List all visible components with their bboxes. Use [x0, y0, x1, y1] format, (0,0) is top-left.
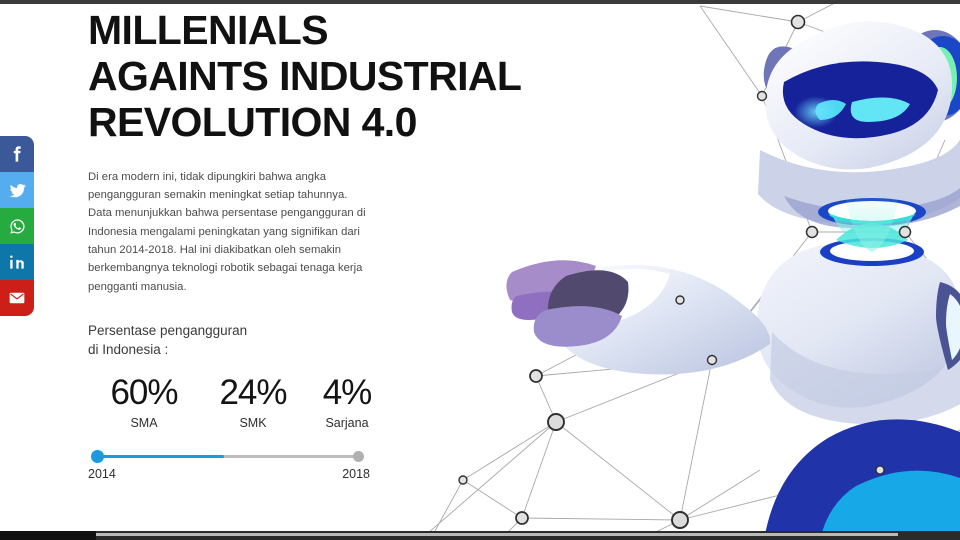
slider-handle-end[interactable] [353, 451, 364, 462]
player-progress-bar[interactable] [0, 531, 960, 540]
slider-year-end: 2018 [342, 467, 370, 481]
stat-label-smk: SMK [200, 410, 306, 430]
social-button-email[interactable] [0, 280, 34, 316]
email-icon [8, 289, 26, 307]
stat-label-sarjana: Sarjana [306, 410, 388, 430]
progress-played [0, 531, 96, 540]
stat-label-sma: SMA [88, 410, 200, 430]
stat-item-sarjana: 4% Sarjana [306, 375, 388, 430]
linkedin-icon [9, 254, 25, 270]
slide-content: MILLENIALS AGAINTS INDUSTRIAL REVOLUTION… [88, 0, 528, 483]
whatsapp-icon [9, 218, 26, 235]
stat-item-sma: 60% SMA [88, 375, 200, 430]
social-button-whatsapp[interactable] [0, 208, 34, 244]
slide-canvas: MILLENIALS AGAINTS INDUSTRIAL REVOLUTION… [0, 0, 960, 540]
slider-year-start: 2014 [88, 467, 116, 481]
stat-value-smk: 24% [200, 375, 306, 410]
slider-year-labels: 2014 2018 [88, 467, 372, 483]
page-title: MILLENIALS AGAINTS INDUSTRIAL REVOLUTION… [88, 0, 528, 146]
social-share-rail[interactable] [0, 136, 34, 316]
social-button-twitter[interactable] [0, 172, 34, 208]
slider-handle-start[interactable] [91, 450, 104, 463]
slider-fill [102, 455, 224, 458]
social-button-linkedin[interactable] [0, 244, 34, 280]
year-range-slider[interactable] [88, 449, 372, 463]
twitter-icon [9, 182, 26, 199]
facebook-icon [9, 146, 25, 162]
stats-heading: Persentase pengangguran di Indonesia : [88, 296, 338, 359]
stat-item-smk: 24% SMK [200, 375, 306, 430]
progress-buffer [96, 533, 898, 536]
intro-paragraph: Di era modern ini, tidak dipungkiri bahw… [88, 146, 366, 296]
social-button-facebook[interactable] [0, 136, 34, 172]
stat-value-sarjana: 4% [306, 375, 388, 410]
stat-value-sma: 60% [88, 375, 200, 410]
statistics-group: 60% SMA 24% SMK 4% Sarjana [88, 359, 388, 430]
